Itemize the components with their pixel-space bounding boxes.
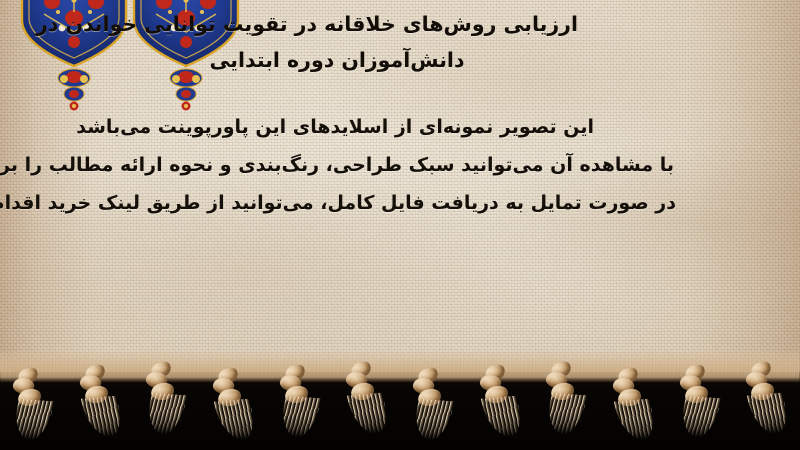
presentation-slide: ارزیابی روش‌های خلاقانه در تقویت توانایی… [0, 0, 800, 450]
tassel-threads [614, 399, 659, 442]
slide-body-line-3: در صورت تمایل به دریافت فایل کامل، می‌تو… [0, 184, 800, 222]
slide-text-layer: ارزیابی روش‌های خلاقانه در تقویت توانایی… [0, 0, 800, 372]
carpet-tassel [71, 363, 133, 441]
slide-body: این تصویر نمونه‌ای از اسلایدهای این پاور… [0, 108, 800, 222]
carpet-tassel [137, 360, 199, 438]
tassel-threads [542, 393, 587, 435]
tassel-threads [409, 399, 454, 441]
tassel-threads [747, 393, 792, 436]
tassel-threads [142, 393, 187, 435]
tassel-threads [347, 393, 392, 436]
carpet-tassel [271, 363, 333, 441]
carpet-tassel [737, 360, 799, 438]
tassel-threads [9, 399, 54, 441]
tassel-threads [276, 396, 321, 438]
slide-title-line-1: ارزیابی روش‌های خلاقانه در تقویت توانایی… [12, 6, 782, 42]
slide-body-line-1: این تصویر نمونه‌ای از اسلایدهای این پاور… [0, 108, 800, 146]
carpet-tassel [471, 363, 533, 441]
tassel-threads [214, 399, 259, 442]
slide-title-line-2: دانش‌آموزان دوره ابتدایی [12, 42, 782, 78]
carpet-tassel [537, 360, 599, 438]
carpet-tassel [204, 366, 266, 444]
carpet-tassel [4, 366, 66, 444]
carpet-tassel [337, 360, 399, 438]
carpet-tassel [604, 366, 666, 444]
tassel-threads [481, 396, 526, 439]
carpet-tassel [671, 363, 733, 441]
tassel-threads [81, 396, 126, 439]
slide-body-line-2: با مشاهده آن می‌توانید سبک طراحی، رنگ‌بن… [0, 146, 800, 184]
slide-title: ارزیابی روش‌های خلاقانه در تقویت توانایی… [12, 6, 782, 78]
carpet-tassel [404, 366, 466, 444]
tassel-threads [676, 396, 721, 438]
